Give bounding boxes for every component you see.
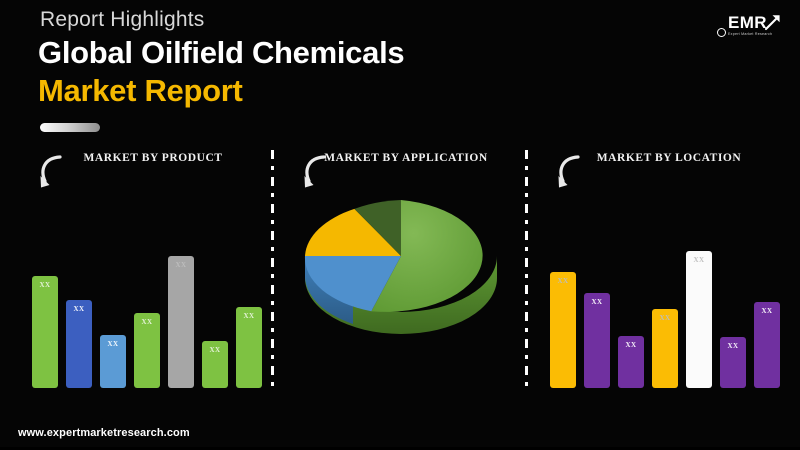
panel-title-product: MARKET BY PRODUCT (18, 152, 266, 164)
bar-product-7[interactable]: XX (236, 307, 262, 388)
footer-website-url[interactable]: www.expertmarketresearch.com (18, 427, 190, 439)
bar-group[interactable]: XX (652, 309, 678, 388)
bar-group[interactable]: XX (686, 251, 712, 388)
title-accent-bar (40, 123, 100, 132)
bar-product-4[interactable]: XX (134, 313, 160, 388)
page-title-line2: Market Report (38, 73, 404, 109)
growth-arrow-icon (764, 12, 784, 32)
bar-location-3[interactable]: XX (618, 336, 644, 388)
bar-group[interactable]: XX (100, 335, 126, 388)
kicker-text: Report Highlights (40, 8, 404, 31)
bar-group[interactable]: XX (66, 300, 92, 388)
bar-label: XX (134, 318, 160, 326)
bar-group[interactable]: XX (134, 313, 160, 388)
bar-label: XX (720, 342, 746, 350)
bar-label: XX (652, 314, 678, 322)
bar-label: XX (236, 312, 262, 320)
bar-group[interactable]: XX (754, 302, 780, 388)
bar-label: XX (584, 298, 610, 306)
panel-title-location: MARKET BY LOCATION (536, 152, 784, 164)
pie-svg[interactable] (301, 182, 501, 334)
bar-product-3[interactable]: XX (100, 335, 126, 388)
slide-canvas: Report Highlights Global Oilfield Chemic… (0, 0, 800, 450)
panel-header-product: MARKET BY PRODUCT (18, 148, 266, 194)
bar-product-2[interactable]: XX (66, 300, 92, 388)
bar-product-5[interactable]: XX (168, 256, 194, 388)
bar-group[interactable]: XX (720, 337, 746, 388)
header-block: Report Highlights Global Oilfield Chemic… (38, 8, 404, 108)
bar-group[interactable]: XX (584, 293, 610, 388)
bar-location-2[interactable]: XX (584, 293, 610, 388)
panel-divider-1 (271, 150, 274, 388)
bar-location-7[interactable]: XX (754, 302, 780, 388)
bar-group[interactable]: XX (236, 307, 262, 388)
panel-market-by-product: MARKET BY PRODUCT XX XX XX XX (18, 148, 266, 388)
bar-group[interactable]: XX (618, 336, 644, 388)
bar-label: XX (100, 340, 126, 348)
bar-group[interactable]: XX (202, 341, 228, 388)
logo-wordmark: EMR (728, 14, 767, 31)
bar-group[interactable]: XX (168, 256, 194, 388)
panel-market-by-application: MARKET BY APPLICATION (282, 148, 520, 388)
bar-chart-location: XX XX XX XX XX (536, 202, 784, 388)
page-title-line1: Global Oilfield Chemicals (38, 35, 404, 71)
bar-label: XX (550, 277, 576, 285)
bar-label: XX (168, 261, 194, 269)
panel-divider-2 (525, 150, 528, 388)
logo-tagline: Expert Market Research (728, 32, 772, 36)
bar-location-4[interactable]: XX (652, 309, 678, 388)
panel-header-location: MARKET BY LOCATION (536, 148, 784, 194)
emr-logo[interactable]: EMR Expert Market Research (714, 12, 786, 46)
bar-label: XX (686, 256, 712, 264)
panel-market-by-location: MARKET BY LOCATION XX XX XX XX (536, 148, 784, 388)
bar-chart-product: XX XX XX XX XX (18, 202, 266, 388)
bar-location-6[interactable]: XX (720, 337, 746, 388)
bar-label: XX (202, 346, 228, 354)
bar-group[interactable]: XX (32, 276, 58, 388)
bar-product-6[interactable]: XX (202, 341, 228, 388)
bar-location-1[interactable]: XX (550, 272, 576, 388)
bar-label: XX (618, 341, 644, 349)
panel-title-application: MARKET BY APPLICATION (282, 152, 520, 164)
bar-label: XX (32, 281, 58, 289)
bar-product-1[interactable]: XX (32, 276, 58, 388)
bar-location-5[interactable]: XX (686, 251, 712, 388)
bar-label: XX (754, 307, 780, 315)
bar-group[interactable]: XX (550, 272, 576, 388)
pie-chart-application (282, 182, 520, 338)
logo-circle-icon (717, 28, 726, 37)
bar-label: XX (66, 305, 92, 313)
